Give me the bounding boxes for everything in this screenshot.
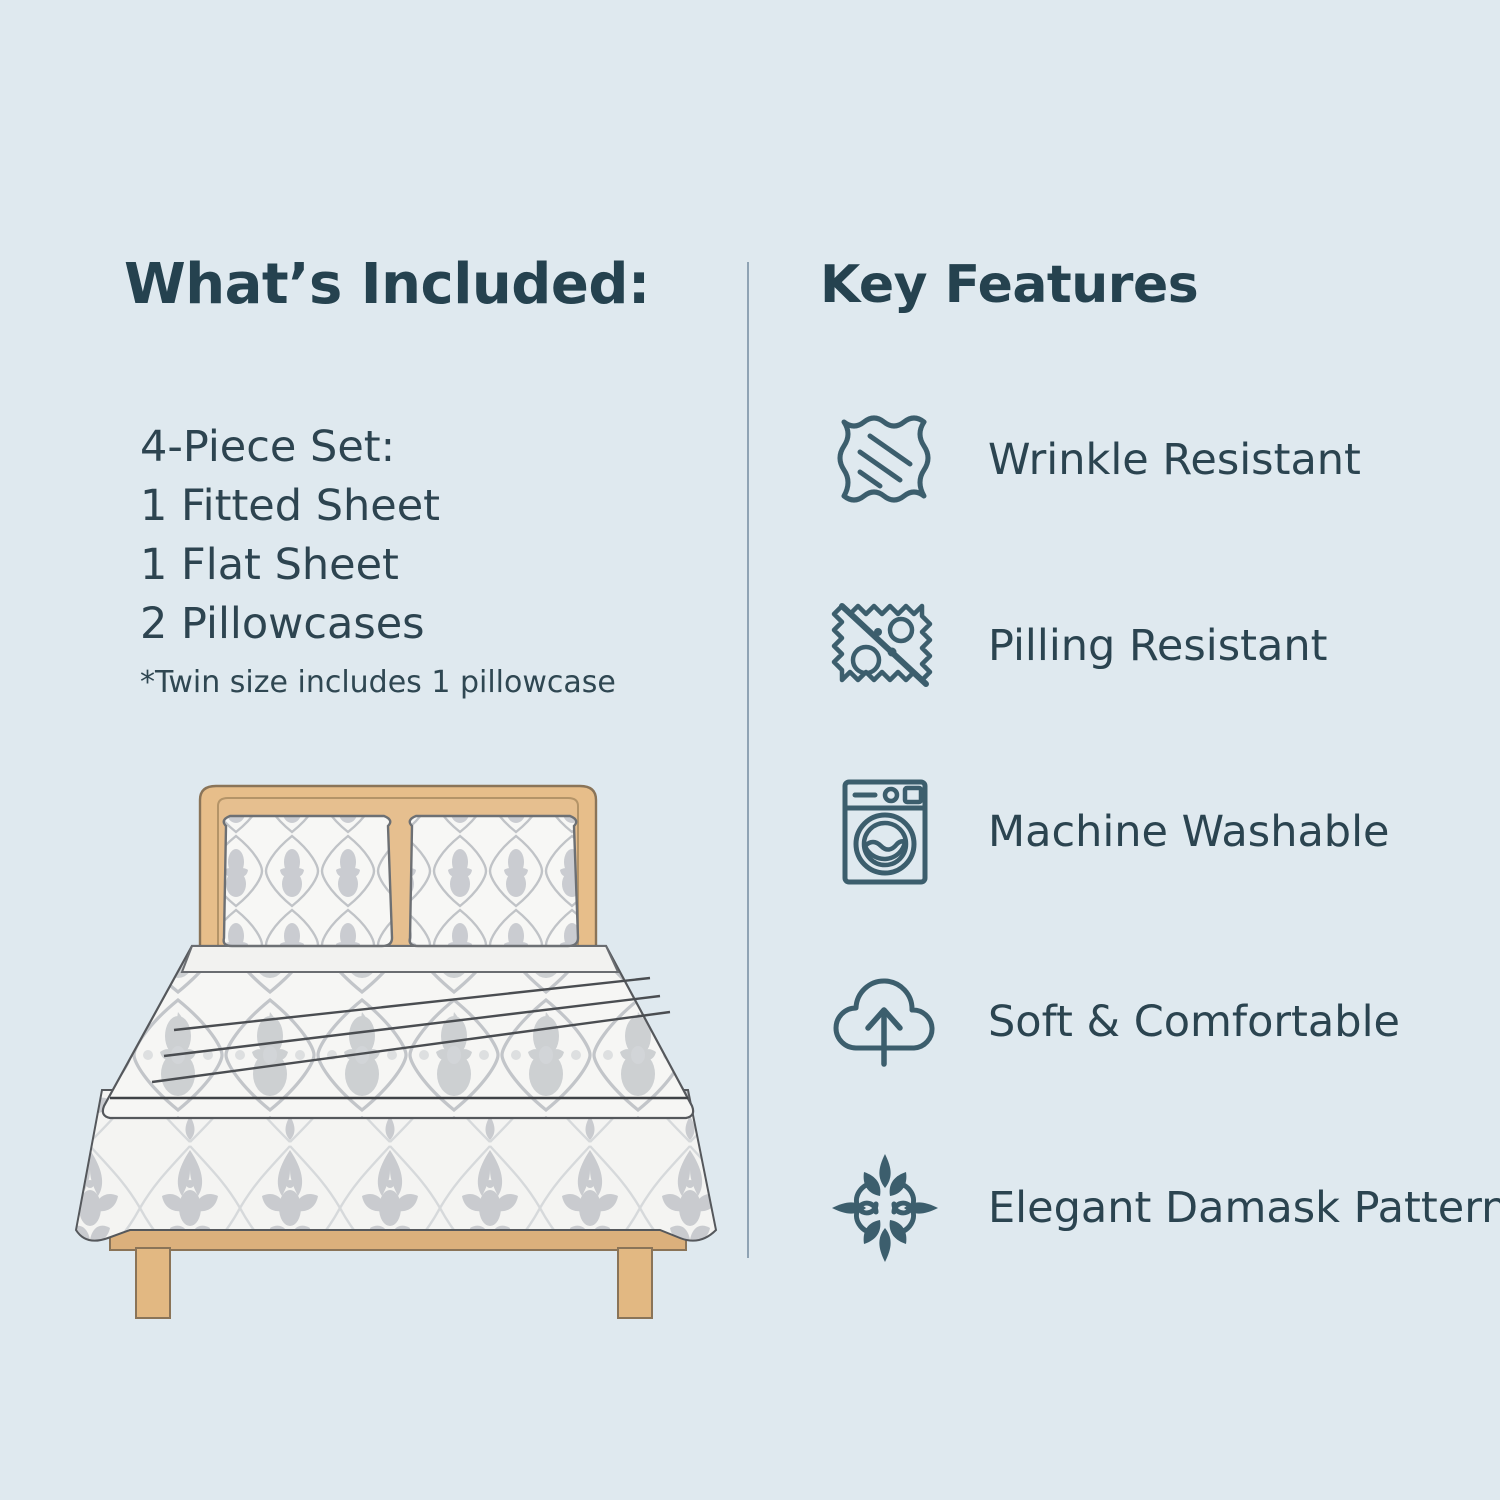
whats-included-section: What’s Included: 4-Piece Set: 1 Fitted S…	[0, 0, 748, 1500]
feature-row-soft-comfortable: Soft & Comfortable	[820, 962, 1480, 1082]
list-item: 1 Flat Sheet	[140, 536, 440, 595]
feature-label: Machine Washable	[988, 807, 1390, 857]
twin-size-footnote: *Twin size includes 1 pillowcase	[140, 665, 616, 700]
bed-leg-right	[618, 1248, 652, 1318]
feature-row-damask-pattern: Elegant Damask Pattern	[820, 1148, 1480, 1268]
damask-ornament-icon	[820, 1148, 950, 1268]
column-divider	[747, 262, 749, 1258]
washing-machine-icon	[820, 772, 950, 892]
pillow-left	[224, 816, 392, 946]
no-pilling-fabric-icon	[820, 586, 950, 706]
bed-leg-left	[136, 1248, 170, 1318]
feature-label: Wrinkle Resistant	[988, 435, 1361, 485]
feature-label: Elegant Damask Pattern	[988, 1183, 1500, 1233]
feature-label: Pilling Resistant	[988, 621, 1327, 671]
whats-included-heading: What’s Included:	[124, 252, 650, 317]
infographic-page: What’s Included: 4-Piece Set: 1 Fitted S…	[0, 0, 1500, 1500]
list-item: 4-Piece Set:	[140, 418, 440, 477]
list-item: 1 Fitted Sheet	[140, 477, 440, 536]
pillow-right	[410, 816, 578, 946]
cloud-arrow-up-icon	[820, 962, 950, 1082]
key-features-heading: Key Features	[820, 255, 1198, 315]
feature-row-machine-washable: Machine Washable	[820, 772, 1480, 892]
mattress-and-bedding	[76, 946, 716, 1318]
feature-label: Soft & Comfortable	[988, 997, 1400, 1047]
list-item: 2 Pillowcases	[140, 595, 440, 654]
included-items-list: 4-Piece Set: 1 Fitted Sheet 1 Flat Sheet…	[140, 418, 440, 654]
feature-row-pilling-resistant: Pilling Resistant	[820, 586, 1480, 706]
wrinkle-fabric-swatch-icon	[820, 400, 950, 520]
feature-row-wrinkle-resistant: Wrinkle Resistant	[820, 400, 1480, 520]
bed-illustration	[40, 760, 740, 1340]
